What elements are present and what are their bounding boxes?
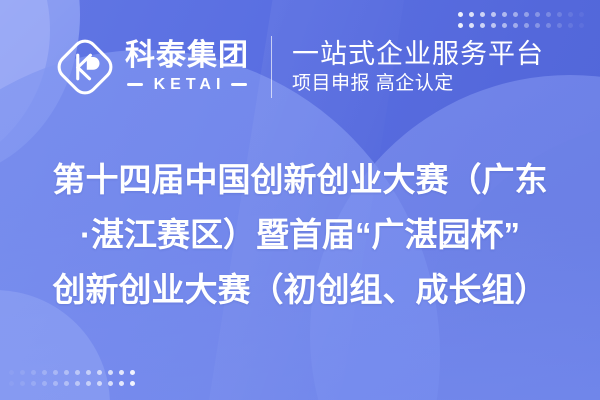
dot-row <box>9 370 135 375</box>
decor-dot <box>491 23 496 28</box>
promo-banner: 科泰集团 KETAI 一站式企业服务平台 项目申报 高企认定 第十四届中国创新创… <box>0 0 600 400</box>
decor-dot <box>458 12 463 17</box>
decor-dot <box>9 381 14 386</box>
decor-dot <box>546 23 551 28</box>
decor-dot <box>31 370 36 375</box>
decor-dot <box>513 23 518 28</box>
decor-dot <box>469 23 474 28</box>
decor-dot <box>9 370 14 375</box>
dot-grid-bottom-left <box>9 370 135 386</box>
decor-dot <box>108 370 113 375</box>
title-line-3: 创新创业大赛（初创组、成长组） <box>14 262 586 317</box>
decor-dot <box>491 12 496 17</box>
brand-name-en-row: KETAI <box>125 76 249 94</box>
tagline-sub: 项目申报 高企认定 <box>292 72 544 96</box>
decor-dot <box>130 381 135 386</box>
tagline-main: 一站式企业服务平台 <box>292 39 544 71</box>
decor-dot <box>75 381 80 386</box>
dot-row <box>458 23 584 28</box>
decor-dot <box>535 12 540 17</box>
decor-dot <box>119 370 124 375</box>
decor-dot <box>535 23 540 28</box>
decor-dot <box>568 23 573 28</box>
decor-dot <box>480 23 485 28</box>
title-line-2: ·湛江赛区）暨首届“广湛园杯” <box>14 207 586 262</box>
tagline-group: 一站式企业服务平台 项目申报 高企认定 <box>292 39 544 96</box>
decor-dot <box>53 381 58 386</box>
ketai-kp-monogram-icon <box>56 38 114 96</box>
brand-dash-left-icon <box>127 83 143 86</box>
decor-dot <box>42 370 47 375</box>
decor-dot <box>480 12 485 17</box>
decor-dot <box>579 23 584 28</box>
brand-name-cn: 科泰集团 <box>125 40 249 72</box>
dot-grid-top-right <box>458 12 584 28</box>
decor-dot <box>557 12 562 17</box>
banner-header: 科泰集团 KETAI 一站式企业服务平台 项目申报 高企认定 <box>0 36 600 98</box>
decor-dot <box>97 381 102 386</box>
decor-dot <box>108 381 113 386</box>
decor-dot <box>524 23 529 28</box>
decor-dot <box>579 12 584 17</box>
decor-dot <box>546 12 551 17</box>
page-title: 第十四届中国创新创业大赛（广东 ·湛江赛区）暨首届“广湛园杯” 创新创业大赛（初… <box>0 152 600 317</box>
title-line-1: 第十四届中国创新创业大赛（广东 <box>14 152 586 207</box>
decor-dot <box>42 381 47 386</box>
brand-name-en: KETAI <box>149 76 226 94</box>
dot-row <box>458 12 584 17</box>
decor-dot <box>502 12 507 17</box>
decor-dot <box>20 381 25 386</box>
decor-dot <box>568 12 573 17</box>
brand-lockup: 科泰集团 KETAI <box>56 38 249 96</box>
decor-dot <box>513 12 518 17</box>
decor-dot <box>20 370 25 375</box>
decor-dot <box>86 381 91 386</box>
decor-dot <box>64 381 69 386</box>
decor-dot <box>64 370 69 375</box>
decor-dot <box>97 370 102 375</box>
decor-dot <box>31 381 36 386</box>
decor-dot <box>524 12 529 17</box>
decor-dot <box>469 12 474 17</box>
decor-dot <box>119 381 124 386</box>
decor-dot <box>502 23 507 28</box>
header-divider <box>271 36 272 98</box>
decor-dot <box>130 370 135 375</box>
brand-wordmark: 科泰集团 KETAI <box>125 40 249 94</box>
dot-row <box>9 381 135 386</box>
decor-dot <box>86 370 91 375</box>
decor-dot <box>75 370 80 375</box>
brand-dash-right-icon <box>231 83 247 86</box>
decor-dot <box>458 23 463 28</box>
decor-dot <box>557 23 562 28</box>
decor-dot <box>53 370 58 375</box>
